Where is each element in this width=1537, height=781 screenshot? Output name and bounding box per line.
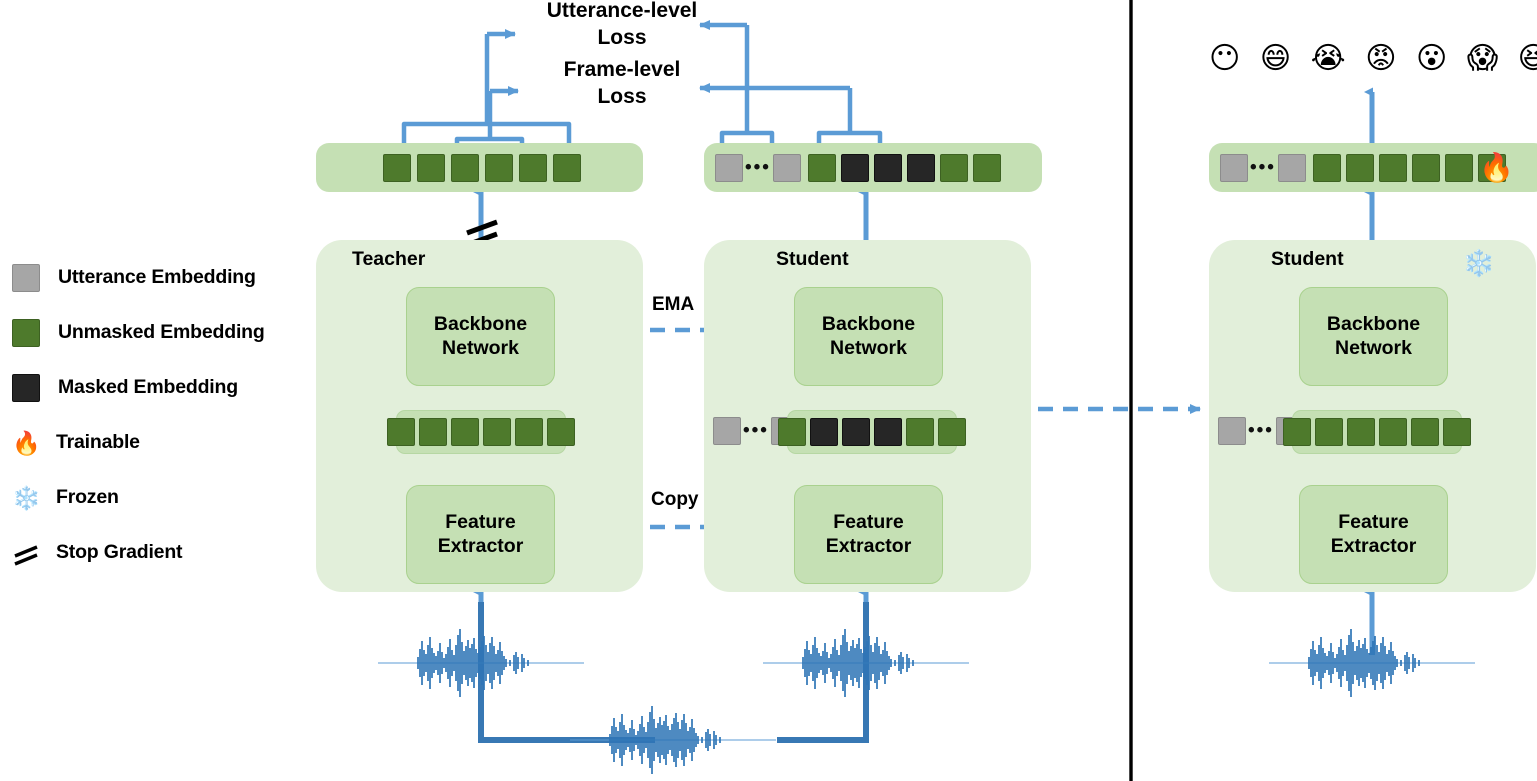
diagram-canvas: Utterance Embedding Unmasked Embedding M… xyxy=(0,0,1537,781)
loss-label-line: Loss xyxy=(536,84,708,111)
legend-item-frozen: ❄️ Frozen xyxy=(8,470,288,525)
embedding-square-unmasked xyxy=(483,418,511,446)
stop-gradient-icon xyxy=(12,540,38,566)
legend-item-utterance: Utterance Embedding xyxy=(8,250,288,305)
embedding-square-unmasked xyxy=(547,418,575,446)
downstream-backbone-network: Backbone Network xyxy=(1299,287,1448,386)
legend-label: Utterance Embedding xyxy=(58,266,256,289)
embedding-square-unmasked xyxy=(1346,154,1374,182)
legend-label: Masked Embedding xyxy=(58,376,238,399)
copy-label: Copy xyxy=(651,489,699,511)
module-label-line: Backbone xyxy=(1327,313,1420,337)
downstream-inner-embedding-row xyxy=(1292,410,1462,454)
embedding-square-unmasked xyxy=(940,154,968,182)
ellipsis-dots: ••• xyxy=(741,418,771,444)
utterance-embedding-swatch xyxy=(12,264,40,292)
embedding-square-utterance xyxy=(1218,417,1246,445)
embedding-square-unmasked xyxy=(1283,418,1311,446)
masked-embedding-swatch xyxy=(12,374,40,402)
frame-level-loss-label: Frame-level Loss xyxy=(536,57,708,111)
module-label-line: Extractor xyxy=(1331,535,1417,559)
legend-label: Unmasked Embedding xyxy=(58,321,265,344)
module-label-line: Feature xyxy=(445,511,515,535)
legend-item-masked: Masked Embedding xyxy=(8,360,288,415)
student-title: Student xyxy=(776,248,849,271)
embedding-square-unmasked xyxy=(387,418,415,446)
downstream-student-panel: Student ❄️ Backbone Network ••• Feature … xyxy=(1209,240,1536,592)
embedding-square-unmasked xyxy=(1379,418,1407,446)
embedding-square-unmasked xyxy=(973,154,1001,182)
legend-label: Stop Gradient xyxy=(56,541,182,564)
embedding-square-unmasked xyxy=(519,154,547,182)
waveform-input-shared xyxy=(570,706,776,774)
legend-item-trainable: 🔥 Trainable xyxy=(8,415,288,470)
ellipsis-dots: ••• xyxy=(743,155,773,181)
loss-label-line: Utterance-level xyxy=(536,0,708,25)
waveform-downstream xyxy=(1269,629,1475,697)
embedding-square-utterance xyxy=(1278,154,1306,182)
module-label-line: Network xyxy=(830,337,907,361)
embedding-square-masked xyxy=(874,418,902,446)
module-label-line: Network xyxy=(1335,337,1412,361)
embedding-square-unmasked xyxy=(451,154,479,182)
emoji-grinning-face: 😄 xyxy=(1260,44,1291,74)
embedding-square-unmasked xyxy=(1315,418,1343,446)
emoji-neutral-face: 😶 xyxy=(1209,44,1240,74)
fire-icon: 🔥 xyxy=(12,430,38,456)
embedding-square-utterance xyxy=(713,417,741,445)
loss-label-line: Frame-level xyxy=(536,57,708,84)
downstream-output-embedding-row: ••• 🔥 xyxy=(1209,143,1537,192)
embedding-square-unmasked xyxy=(938,418,966,446)
emotion-class-row: 😶 😄 😭 😡 😮 😱 😆 xyxy=(1203,44,1537,74)
emoji-screaming-face: 😱 xyxy=(1467,44,1498,74)
fire-icon: 🔥 xyxy=(1479,154,1514,182)
module-label-line: Network xyxy=(442,337,519,361)
embedding-square-unmasked xyxy=(515,418,543,446)
downstream-title: Student xyxy=(1271,248,1344,271)
embedding-square-unmasked xyxy=(417,154,445,182)
embedding-square-unmasked xyxy=(1379,154,1407,182)
snowflake-icon: ❄️ xyxy=(12,485,38,511)
embedding-square-unmasked xyxy=(1411,418,1439,446)
waveform-student xyxy=(763,629,969,697)
student-inner-embedding-row xyxy=(787,410,957,454)
embedding-square-unmasked xyxy=(1313,154,1341,182)
loss-label-line: Loss xyxy=(536,25,708,52)
embedding-square-masked xyxy=(907,154,935,182)
emoji-laughing-face: 😆 xyxy=(1518,44,1537,74)
module-label-line: Extractor xyxy=(438,535,524,559)
embedding-square-unmasked xyxy=(778,418,806,446)
unmasked-embedding-swatch xyxy=(12,319,40,347)
downstream-feature-extractor: Feature Extractor xyxy=(1299,485,1448,584)
legend-label: Frozen xyxy=(56,486,119,509)
emoji-crying-face: 😭 xyxy=(1311,44,1346,74)
teacher-title: Teacher xyxy=(352,248,425,271)
embedding-square-unmasked xyxy=(419,418,447,446)
module-label-line: Feature xyxy=(1338,511,1408,535)
student-backbone-network: Backbone Network xyxy=(794,287,943,386)
ema-label: EMA xyxy=(652,294,694,316)
ellipsis-dots: ••• xyxy=(1248,155,1278,181)
student-output-embedding-row: ••• xyxy=(704,143,1042,192)
snowflake-icon: ❄️ xyxy=(1463,250,1495,276)
teacher-output-squares xyxy=(383,154,581,182)
emoji-angry-face: 😡 xyxy=(1365,44,1396,74)
teacher-feature-extractor: Feature Extractor xyxy=(406,485,555,584)
embedding-square-unmasked xyxy=(906,418,934,446)
embedding-square-unmasked xyxy=(451,418,479,446)
embedding-square-masked xyxy=(874,154,902,182)
legend-item-stop-gradient: Stop Gradient xyxy=(8,525,288,580)
teacher-panel: Teacher Backbone Network Feature Extract… xyxy=(316,240,643,592)
embedding-square-utterance xyxy=(1220,154,1248,182)
teacher-output-embedding-row xyxy=(316,143,643,192)
embedding-square-masked xyxy=(841,154,869,182)
teacher-inner-embedding-row xyxy=(396,410,566,454)
embedding-square-unmasked xyxy=(1445,154,1473,182)
teacher-backbone-network: Backbone Network xyxy=(406,287,555,386)
module-label-line: Feature xyxy=(833,511,903,535)
module-label-line: Backbone xyxy=(822,313,915,337)
emoji-surprised-face: 😮 xyxy=(1416,44,1447,74)
embedding-square-utterance xyxy=(773,154,801,182)
embedding-square-unmasked xyxy=(485,154,513,182)
utterance-level-loss-label: Utterance-level Loss xyxy=(536,0,708,52)
waveform-teacher xyxy=(378,629,584,697)
embedding-square-masked xyxy=(842,418,870,446)
legend-label: Trainable xyxy=(56,431,140,454)
embedding-square-unmasked xyxy=(1347,418,1375,446)
module-label-line: Extractor xyxy=(826,535,912,559)
embedding-square-unmasked xyxy=(553,154,581,182)
ellipsis-dots: ••• xyxy=(1246,418,1276,444)
embedding-square-masked xyxy=(810,418,838,446)
embedding-square-unmasked xyxy=(1443,418,1471,446)
embedding-square-unmasked xyxy=(808,154,836,182)
embedding-square-unmasked xyxy=(1412,154,1440,182)
student-feature-extractor: Feature Extractor xyxy=(794,485,943,584)
module-label-line: Backbone xyxy=(434,313,527,337)
student-panel: Student Backbone Network ••• Feature Ext… xyxy=(704,240,1031,592)
legend-item-unmasked: Unmasked Embedding xyxy=(8,305,288,360)
embedding-square-utterance xyxy=(715,154,743,182)
legend: Utterance Embedding Unmasked Embedding M… xyxy=(8,250,288,580)
embedding-square-unmasked xyxy=(383,154,411,182)
